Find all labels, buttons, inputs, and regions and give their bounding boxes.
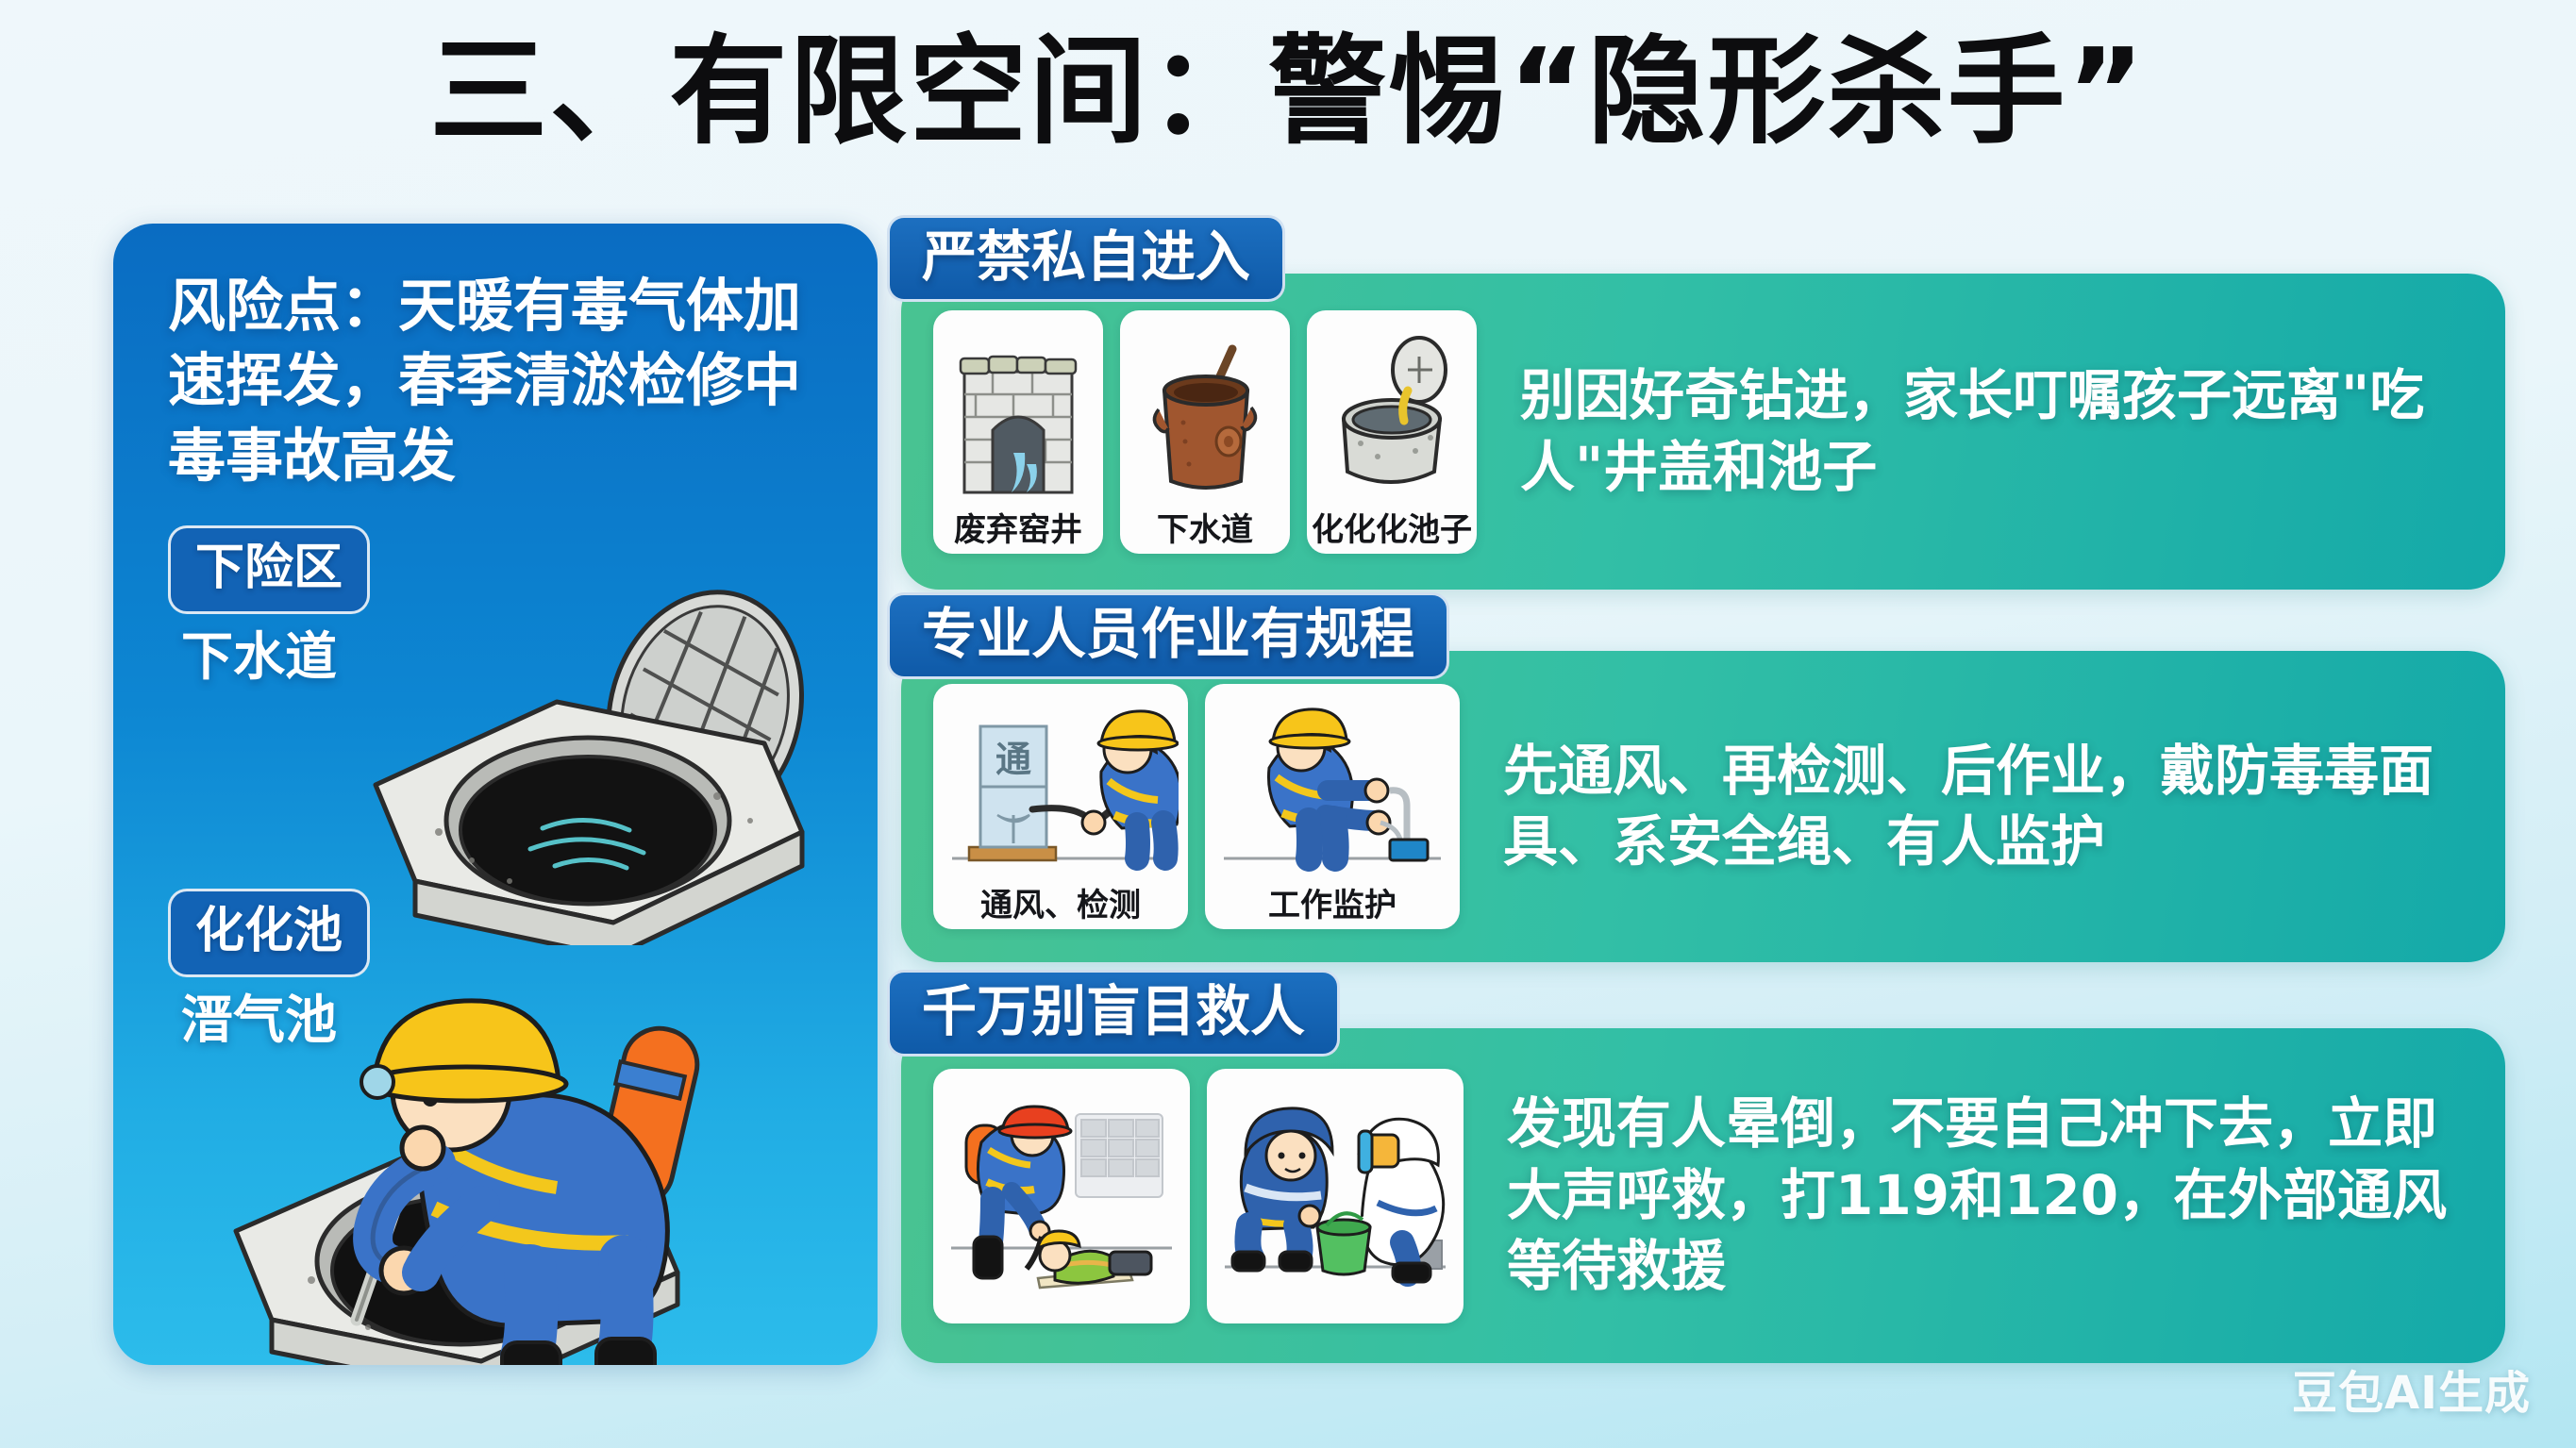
thumb-sewer[interactable]: 下水道 (1120, 310, 1290, 554)
thumb-abandoned-well[interactable]: 废弃窑井 (933, 310, 1103, 554)
zone-label-1: 下水道 (181, 631, 370, 683)
watermark: 豆包AI生成 (2292, 1356, 2531, 1422)
rule-card-professional-procedure: 专业人员作业有规程 通 (901, 651, 2505, 962)
thumb-caption: 废弃窑井 (954, 510, 1082, 548)
hazmat-decontamination-icon (1217, 1078, 1453, 1312)
thumb-caption: 通风、检测 (980, 886, 1141, 924)
worker-probing-manhole-icon (198, 978, 878, 1365)
left-risk-panel: 风险点：天暖有毒气体加速挥发，春季清淤检修中毒事故高发 (113, 224, 878, 1365)
rule-card-no-blind-rescue: 千万别盲目救人 (901, 1028, 2505, 1363)
thumb-group-1: 废弃窑井 下水道 (933, 310, 1477, 554)
thumb-caption: 下水道 (1157, 510, 1253, 548)
rule-card-forbid-entry: 严禁私自进入 (901, 274, 2505, 590)
card-body-2: 先通风、再检测、后作业，戴防毒毒面具、系安全绳、有人监护 (1460, 736, 2473, 878)
page-title: 三、有限空间：警惕“隐形杀手” (0, 17, 2576, 168)
abandoned-kiln-well-icon (947, 320, 1089, 510)
thumb-septic-tank[interactable]: 化化化池子 (1307, 310, 1477, 554)
work-supervision-icon (1214, 693, 1450, 886)
rescuer-aiding-victim-icon (944, 1078, 1179, 1312)
svg-text:通: 通 (995, 739, 1031, 780)
thumb-caption: 化化化池子 (1312, 510, 1472, 548)
ventilation-detection-icon: 通 (943, 693, 1179, 886)
septic-tank-icon (1321, 320, 1463, 510)
thumb-work-supervision[interactable]: 工作监护 (1205, 684, 1460, 929)
thumb-hazmat-decontamination[interactable] (1207, 1069, 1464, 1323)
thumb-ventilation-detection[interactable]: 通 (933, 684, 1188, 929)
thumb-group-2: 通 (933, 684, 1460, 929)
sewer-jar-icon (1134, 320, 1276, 510)
thumb-caption: 工作监护 (1268, 886, 1397, 924)
zone-block-sewer: 下险区 下水道 (168, 525, 370, 683)
card-body-3: 发现有人晕倒，不要自己冲下去，立即大声呼救，打119和120，在外部通风等待救援 (1464, 1089, 2473, 1302)
zone-badge-2: 化化池 (168, 889, 370, 977)
zone-badge-1: 下险区 (168, 525, 370, 614)
thumb-rescue-victim[interactable] (933, 1069, 1190, 1323)
thumb-group-3 (933, 1069, 1464, 1323)
card-body-1: 别因好奇钻进，家长叮嘱孩子远离"吃人"井盖和池子 (1477, 360, 2473, 503)
risk-description: 风险点：天暖有毒气体加速挥发，春季清淤检修中毒事故高发 (168, 269, 828, 493)
